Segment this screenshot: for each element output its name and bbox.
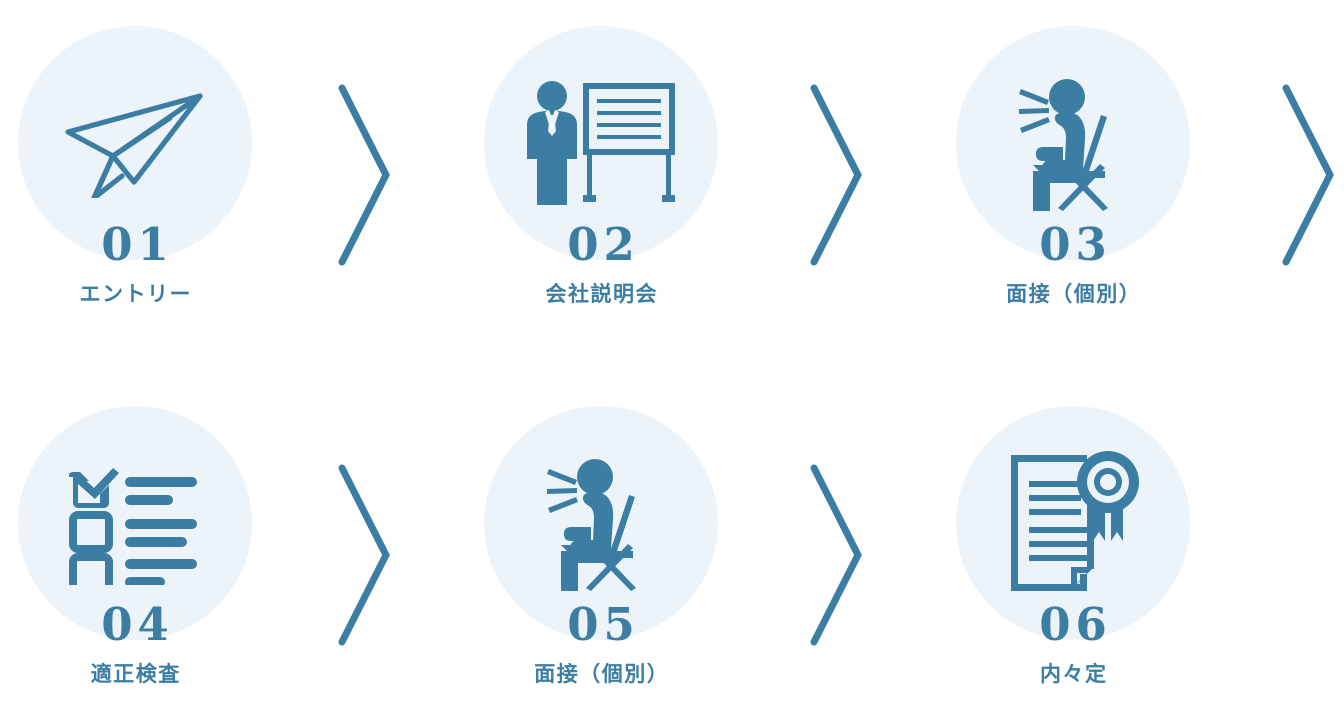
step-number: 03 xyxy=(938,222,1208,267)
step-number: 05 xyxy=(466,602,736,647)
flow-row-bottom: 04 適正検査 xyxy=(0,380,1344,720)
flow-step-04[interactable]: 04 適正検査 xyxy=(0,380,270,710)
chevron-right-icon xyxy=(802,462,868,648)
chevron-right-icon xyxy=(330,82,396,268)
step-number: 01 xyxy=(0,222,270,267)
recruitment-flow-diagram: 01 エントリー xyxy=(0,0,1344,720)
step-label: 面接（個別） xyxy=(466,664,736,685)
flow-step-02[interactable]: 02 会社説明会 xyxy=(466,0,736,330)
step-label: 適正検査 xyxy=(0,664,270,685)
chevron-right-icon xyxy=(802,82,868,268)
step-number: 06 xyxy=(938,602,1208,647)
step-label: 会社説明会 xyxy=(466,284,736,305)
step-label: 面接（個別） xyxy=(938,284,1208,305)
flow-step-01[interactable]: 01 エントリー xyxy=(0,0,270,330)
step-number: 04 xyxy=(0,602,270,647)
step-number: 02 xyxy=(466,222,736,267)
step-label: エントリー xyxy=(0,284,270,305)
flow-step-05[interactable]: 05 面接（個別） xyxy=(466,380,736,710)
flow-step-06[interactable]: 06 内々定 xyxy=(938,380,1208,710)
chevron-right-icon xyxy=(330,462,396,648)
step-label: 内々定 xyxy=(938,664,1208,685)
flow-row-top: 01 エントリー xyxy=(0,0,1344,360)
flow-step-03[interactable]: 03 面接（個別） xyxy=(938,0,1208,330)
chevron-right-icon xyxy=(1274,82,1340,268)
